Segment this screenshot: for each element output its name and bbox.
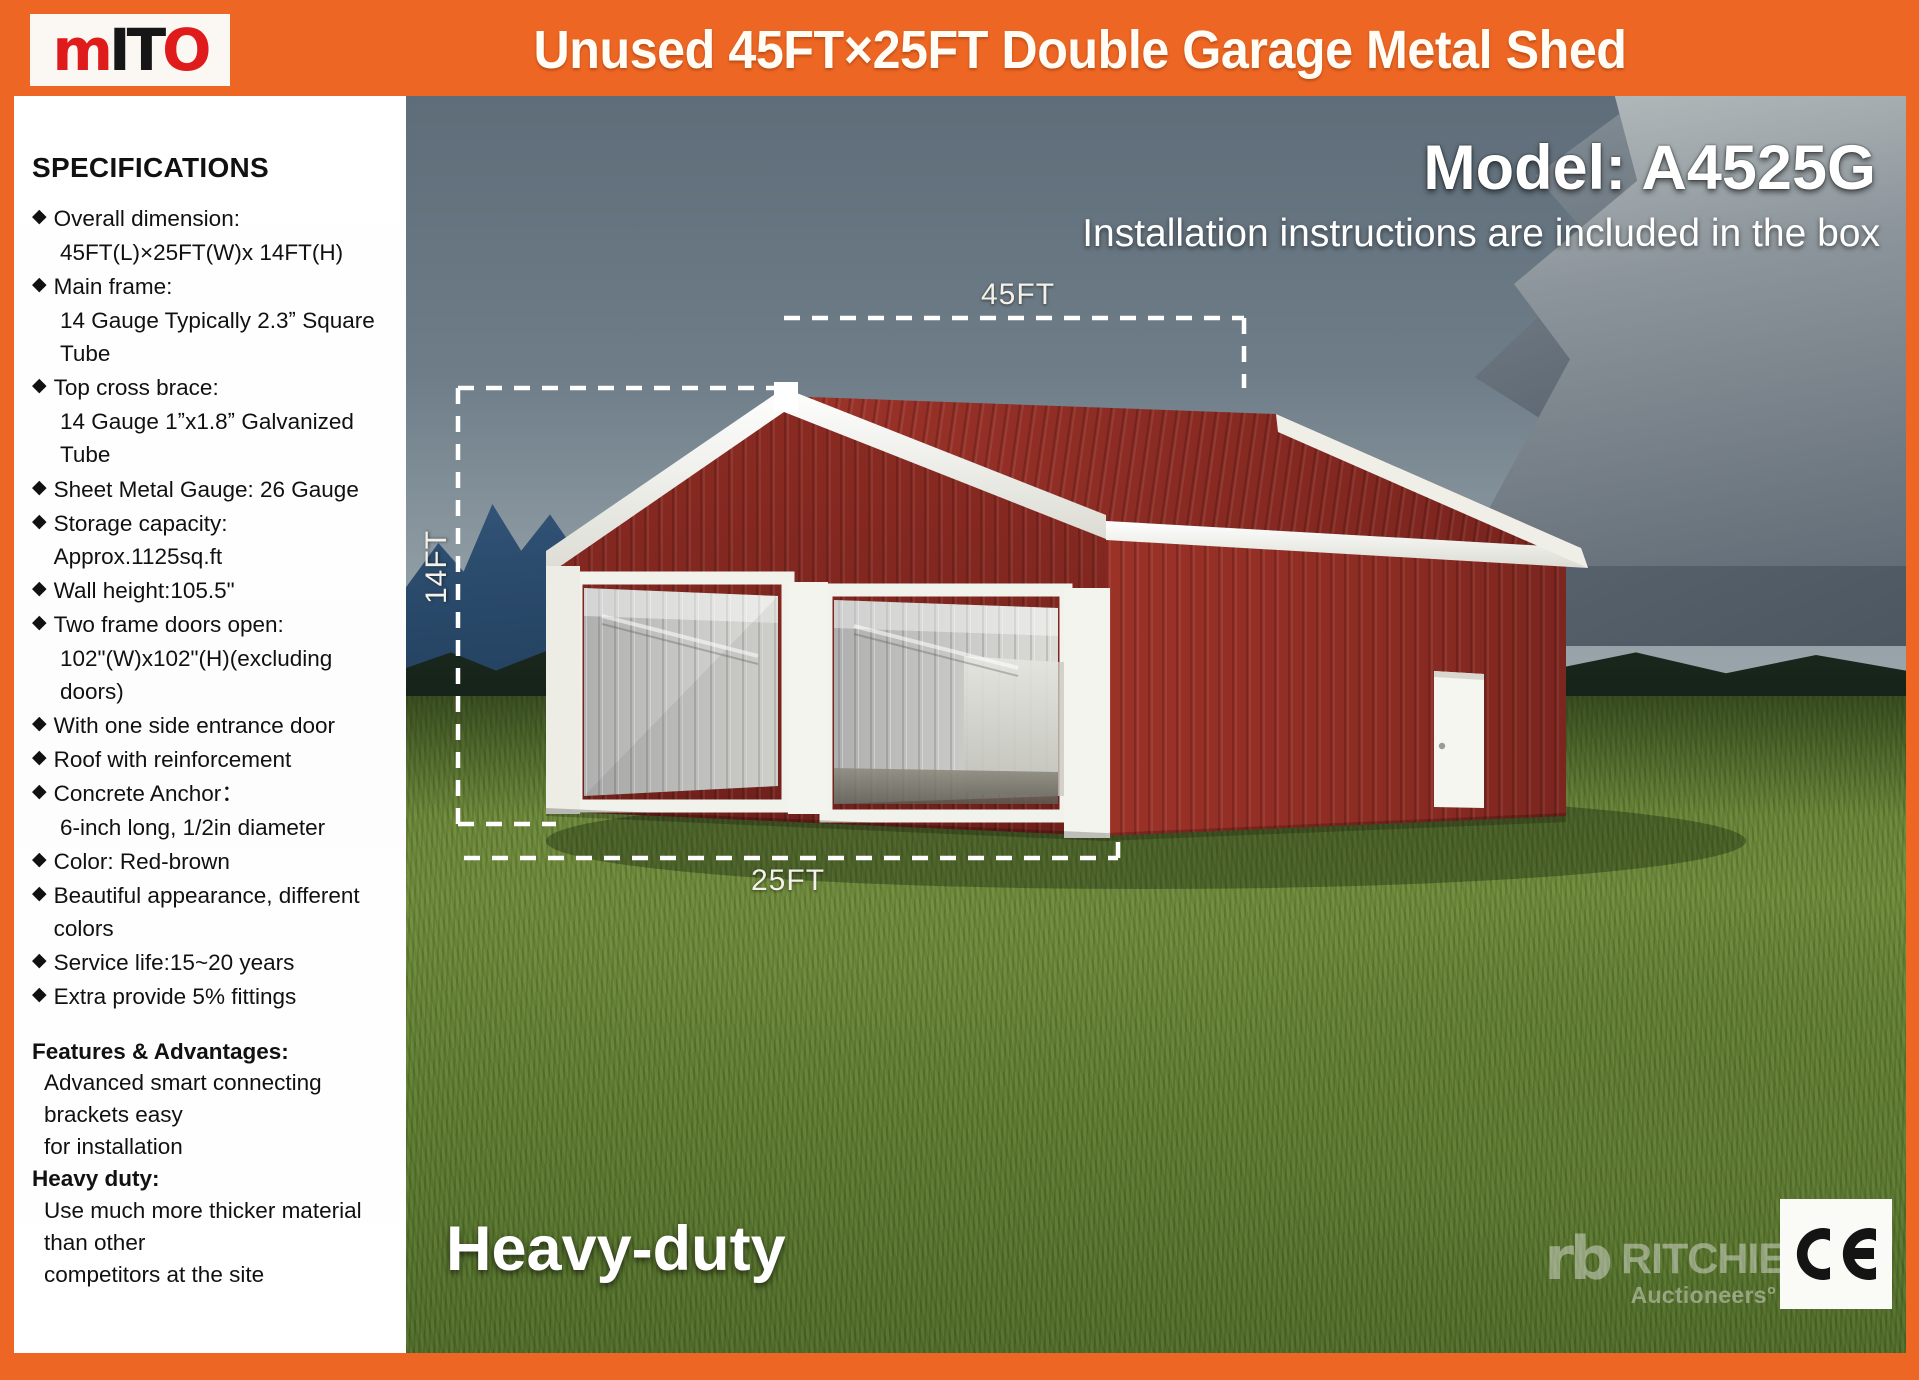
spec-item: ◆With one side entrance door [32,709,392,742]
spec-item-text: 14 Gauge 1ˮx1.8ˮ Galvanized Tube [60,405,392,471]
spec-item-text: Top cross brace: [54,371,392,404]
ritchie-subtitle: Auctioneers° [1621,1281,1786,1311]
logo-letter-m: m [53,16,109,84]
spec-item-text: 45FT(L)×25FT(W)x 14FT(H) [60,236,392,269]
spec-item-text: 102"(W)x102"(H)(excluding doors) [60,642,392,708]
poster-title: Unused 45FT×25FT Double Garage Metal She… [438,10,1721,90]
spec-item-continuation: 14 Gauge 1ˮx1.8ˮ Galvanized Tube [32,405,392,471]
heavy-duty-label: Heavy-duty [446,1213,786,1285]
specifications-list: ◆Overall dimension: 45FT(L)×25FT(W)x 14F… [32,202,392,1014]
spec-item: ◆Storage capacity: Approx.1125sq.ft [32,507,392,573]
spec-item: ◆Concrete Anchor： [32,777,392,810]
diamond-bullet-icon: ◆ [32,473,47,503]
spec-item-text: Color: Red-brown [54,845,392,878]
poster-header: mITO Unused 45FT×25FT Double Garage Meta… [0,0,1919,100]
spec-item: ◆Sheet Metal Gauge: 26 Gauge [32,473,392,506]
ritchie-auctioneers-watermark: rb RITCHIE Auctioneers° [1544,1232,1786,1311]
spec-item-text: Wall height:105.5" [54,574,392,607]
model-label: Model: A4525G [1423,132,1876,204]
features-heading: Features & Advantages: [32,1036,392,1068]
logo-letter-t: T [127,16,163,84]
diamond-bullet-icon: ◆ [32,608,47,638]
spec-item-text: Storage capacity: Approx.1125sq.ft [54,507,392,573]
spec-item: ◆Top cross brace: [32,371,392,404]
spec-item: ◆Main frame: [32,270,392,303]
spec-item: ◆Beautiful appearance, different colors [32,879,392,945]
spec-item-text: Service life:15~20 years [54,946,392,979]
ritchie-name: RITCHIE [1621,1238,1786,1281]
logo-letter-o: O [162,16,207,84]
features-advantages-block: Features & Advantages: Advanced smart co… [32,1036,392,1292]
spec-item-text: 6-inch long, 1/2in diameter [60,811,392,844]
diamond-bullet-icon: ◆ [32,709,47,739]
diamond-bullet-icon: ◆ [32,743,47,773]
dimension-label-width: 25FT [751,864,825,898]
spec-item-text: Overall dimension: [54,202,392,235]
features-body-line: for installation [32,1131,392,1163]
spec-item-text: Concrete Anchor： [54,777,392,810]
diamond-bullet-icon: ◆ [32,845,47,875]
spec-item-text: Extra provide 5% fittings [54,980,392,1013]
diamond-bullet-icon: ◆ [32,202,47,232]
product-photo: 45FT 25FT 14FT Model: A4525G Installatio… [406,96,1906,1353]
specifications-panel: SPECIFICATIONS ◆Overall dimension: 45FT(… [14,96,406,1353]
spec-item-text: With one side entrance door [54,709,392,742]
ce-mark-badge [1780,1199,1892,1309]
ce-mark-icon [1790,1221,1882,1287]
spec-item: ◆Extra provide 5% fittings [32,980,392,1013]
installation-note: Installation instructions are included i… [1082,212,1880,256]
heavy-duty-body-line: Use much more thicker material than othe… [32,1195,392,1259]
spec-item-continuation: 102"(W)x102"(H)(excluding doors) [32,642,392,708]
spec-item: ◆Overall dimension: [32,202,392,235]
spec-item-text: 14 Gauge Typically 2.3ˮ Square Tube [60,304,392,370]
spec-item-continuation: 45FT(L)×25FT(W)x 14FT(H) [32,236,392,269]
product-poster: mITO Unused 45FT×25FT Double Garage Meta… [0,0,1919,1380]
mito-logo: mITO [30,14,230,86]
diamond-bullet-icon: ◆ [32,879,47,909]
diamond-bullet-icon: ◆ [32,946,47,976]
heavy-duty-heading: Heavy duty: [32,1163,392,1195]
spec-item: ◆Roof with reinforcement [32,743,392,776]
dimension-label-length: 45FT [981,278,1055,312]
specifications-heading: SPECIFICATIONS [32,152,392,184]
dimension-label-height: 14FT [420,530,454,604]
spec-item-text: Sheet Metal Gauge: 26 Gauge [54,473,392,506]
spec-item: ◆Color: Red-brown [32,845,392,878]
mito-logo-text: mITO [53,21,208,79]
spec-item-text: Roof with reinforcement [54,743,392,776]
spec-item: ◆Service life:15~20 years [32,946,392,979]
diamond-bullet-icon: ◆ [32,777,47,807]
diamond-bullet-icon: ◆ [32,507,47,537]
rb-logo-mark: rb [1544,1232,1609,1287]
diamond-bullet-icon: ◆ [32,980,47,1010]
spec-item-text: Beautiful appearance, different colors [54,879,392,945]
diamond-bullet-icon: ◆ [32,371,47,401]
diamond-bullet-icon: ◆ [32,574,47,604]
spec-item: ◆Wall height:105.5" [32,574,392,607]
spec-item-text: Main frame: [54,270,392,303]
metal-shed-illustration [406,96,1906,1353]
spec-item: ◆Two frame doors open: [32,608,392,641]
heavy-duty-body-line: competitors at the site [32,1259,392,1291]
diamond-bullet-icon: ◆ [32,270,47,300]
features-body-line: Advanced smart connecting brackets easy [32,1067,392,1131]
spec-item-continuation: 6-inch long, 1/2in diameter [32,811,392,844]
ritchie-wordmark: RITCHIE Auctioneers° [1621,1238,1786,1311]
spec-item-continuation: 14 Gauge Typically 2.3ˮ Square Tube [32,304,392,370]
logo-letter-i: I [109,16,127,84]
spec-item-text: Two frame doors open: [54,608,392,641]
